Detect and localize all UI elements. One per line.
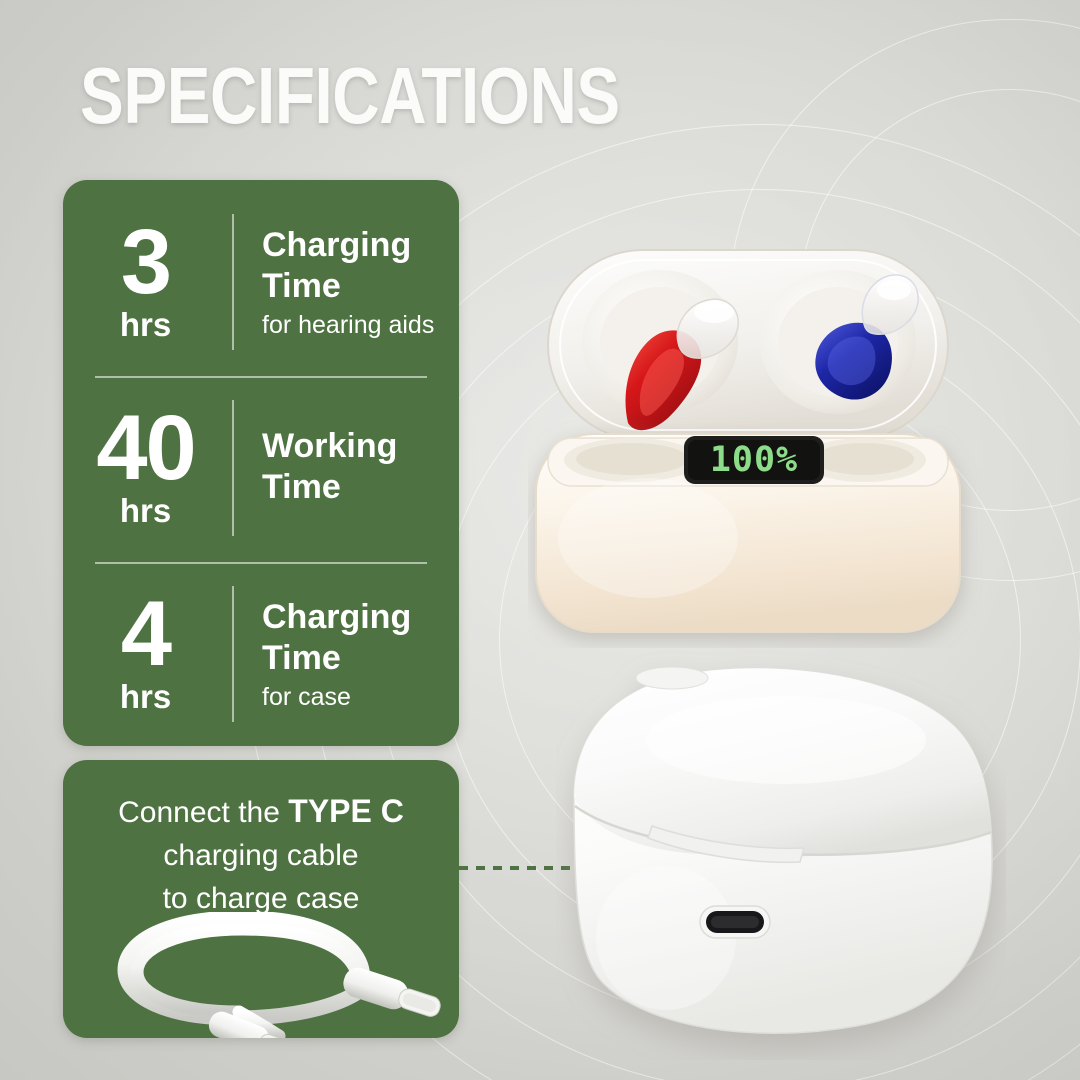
page-title: SPECIFICATIONS [80, 52, 620, 140]
cable-text-line2: charging cable [63, 834, 459, 877]
usb-c-port [700, 906, 770, 938]
battery-display-panel: 100% [684, 436, 824, 484]
spec-sublabel: for case [262, 682, 459, 712]
spec-label-group: Charging Time for hearing aids [234, 225, 459, 340]
open-charging-case: 100% [528, 238, 998, 648]
spec-value-group: 3 hrs [63, 220, 232, 344]
closed-charging-case [556, 648, 1006, 1060]
spec-value: 40 [63, 406, 228, 490]
spec-label-group: Working Time [234, 426, 459, 511]
specs-card: 3 hrs Charging Time for hearing aids 40 … [63, 180, 459, 746]
spec-unit: hrs [63, 492, 228, 530]
spec-sublabel: for hearing aids [262, 310, 459, 340]
spec-value-group: 40 hrs [63, 406, 232, 530]
cable-instruction-text: Connect the TYPE C charging cable to cha… [63, 790, 459, 920]
spec-value: 4 [63, 592, 228, 676]
spec-label-line2: Time [262, 467, 459, 508]
spec-row-charging-time-hearing-aids: 3 hrs Charging Time for hearing aids [63, 192, 459, 372]
spec-value: 3 [63, 220, 228, 304]
infographic-page: SPECIFICATIONS 3 hrs Charging Time for h… [0, 0, 1080, 1080]
spec-label-line2: Time [262, 266, 459, 307]
spec-row-working-time: 40 hrs Working Time [63, 378, 459, 558]
spec-row-charging-time-case: 4 hrs Charging Time for case [63, 564, 459, 744]
cable-text-typec: TYPE C [288, 793, 404, 829]
spec-label-line1: Working [262, 426, 459, 467]
spec-unit: hrs [63, 678, 228, 716]
battery-percent-text: 100% [710, 440, 798, 480]
cable-text-line1: Connect the TYPE C [63, 790, 459, 834]
spec-label-group: Charging Time for case [234, 597, 459, 712]
spec-label-line2: Time [262, 638, 459, 679]
spec-value-group: 4 hrs [63, 592, 232, 716]
usb-c-cable-icon [63, 912, 459, 1038]
spec-label-line1: Charging [262, 225, 459, 266]
cable-text-prefix: Connect the [118, 796, 288, 829]
spec-unit: hrs [63, 306, 228, 344]
spec-label-line1: Charging [262, 597, 459, 638]
cable-instruction-card: Connect the TYPE C charging cable to cha… [63, 760, 459, 1038]
